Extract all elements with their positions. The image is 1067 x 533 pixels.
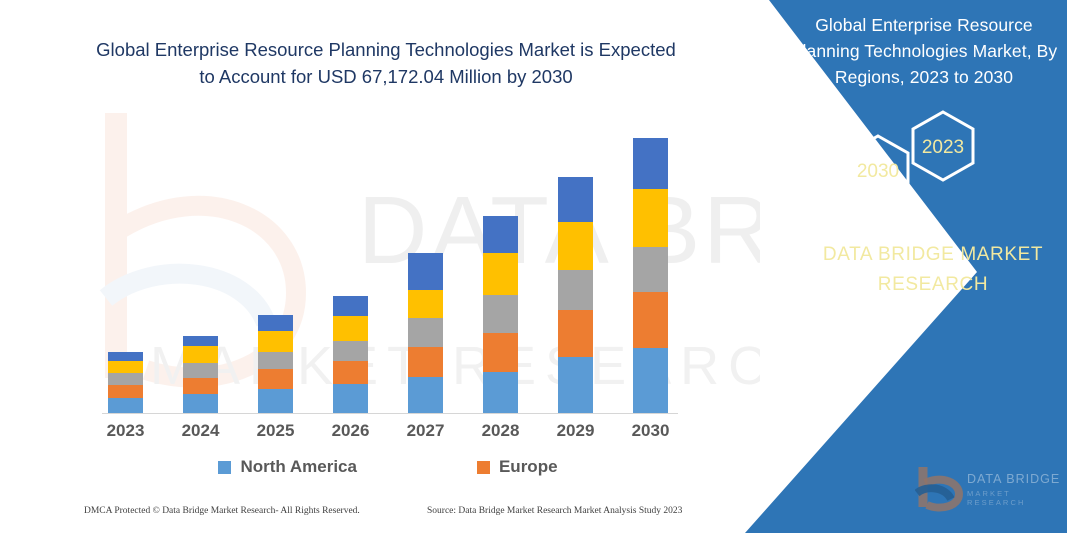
x-axis-label: 2028 [465,421,537,441]
bar-segment [183,336,218,346]
x-axis-label: 2024 [165,421,237,441]
x-axis-label: 2027 [390,421,462,441]
x-axis-labels: 20232024202520262027202820292030 [88,416,688,446]
brand-name: DATA BRIDGE MARKET RESEARCH [808,240,1058,300]
x-axis-label: 2023 [90,421,162,441]
bar-segment [333,384,368,413]
bar-segment [183,346,218,363]
infographic-canvas: DATA BRIDGE MARKET RESEARCH Global Enter… [0,0,1067,533]
stacked-bar-2028 [483,216,518,413]
bar-segment [183,394,218,413]
bar-segment [108,361,143,373]
bar-segment [483,333,518,372]
legend-label: North America [240,457,357,477]
bar-segment [108,352,143,361]
bar-segment [333,361,368,384]
bar-segment [483,372,518,413]
corner-logo-line2: MARKET RESEARCH [967,489,1065,507]
bar-segment [333,341,368,361]
bar-segment [558,357,593,413]
hexagon-badge-2030: 2030 [848,136,908,204]
hexagon-badges: 2030 2023 [820,104,1020,214]
legend-swatch [477,461,490,474]
bar-segment [408,377,443,413]
legend-item[interactable]: Europe [477,457,558,477]
bar-segment [483,216,518,253]
bar-segment [408,290,443,318]
bar-segment [558,222,593,270]
x-axis-label: 2025 [240,421,312,441]
legend-label: Europe [499,457,558,477]
stacked-bar-2023 [108,352,143,413]
bar-segment [408,318,443,347]
stacked-bar-chart [88,108,688,414]
bar-segment [408,347,443,377]
legend-item[interactable]: North America [218,457,357,477]
bar-segment [183,363,218,378]
bar-segment [558,310,593,357]
bar-slot [465,216,537,413]
bar-segment [108,398,143,413]
stacked-bar-2025 [258,315,293,413]
bar-segment [183,378,218,394]
bar-slot [90,352,162,413]
chart-plot-area [88,108,688,413]
footer: DMCA Protected © Data Bridge Market Rese… [0,506,700,528]
hexagon-badge-2023: 2023 [913,112,973,180]
bar-slot [390,253,462,413]
bar-segment [483,253,518,295]
x-axis-line [102,413,678,414]
corner-logo-line1: DATA BRIDGE [967,472,1060,486]
bar-segment [333,316,368,341]
bar-segment [558,177,593,222]
bar-segment [633,247,668,292]
bar-segment [633,138,668,189]
hexagon-label-0: 2030 [857,161,899,182]
stacked-bar-2024 [183,336,218,413]
bar-segment [258,369,293,389]
x-axis-label: 2030 [615,421,687,441]
stacked-bar-2029 [558,177,593,413]
bar-segment [258,389,293,413]
bar-segment [633,292,668,348]
hexagon-label-1: 2023 [922,137,964,158]
panel-title: Global Enterprise Resource Planning Tech… [790,12,1058,90]
bar-segment [258,352,293,369]
stacked-bar-2030 [633,138,668,413]
footer-copyright: DMCA Protected © Data Bridge Market Rese… [84,506,360,516]
x-axis-label: 2029 [540,421,612,441]
bar-slot [315,296,387,413]
bar-segment [333,296,368,316]
bar-segment [108,385,143,398]
bar-segment [483,295,518,333]
bar-segment [258,331,293,352]
bar-slot [165,336,237,413]
bar-slot [240,315,312,413]
stacked-bar-2026 [333,296,368,413]
bar-segment [258,315,293,331]
corner-logo-b-icon [915,463,963,513]
corner-logo: DATA BRIDGE MARKET RESEARCH [915,463,1065,518]
x-axis-label: 2026 [315,421,387,441]
stacked-bar-2027 [408,253,443,413]
bar-segment [408,253,443,290]
bar-slot [540,177,612,413]
bar-segment [558,270,593,310]
bar-segment [633,348,668,413]
legend-swatch [218,461,231,474]
bar-segment [633,189,668,247]
bar-segment [108,373,143,385]
footer-source: Source: Data Bridge Market Research Mark… [427,506,682,516]
bar-slot [615,138,687,413]
page-title: Global Enterprise Resource Planning Tech… [86,36,686,90]
chart-legend: North AmericaEurope [88,452,688,482]
